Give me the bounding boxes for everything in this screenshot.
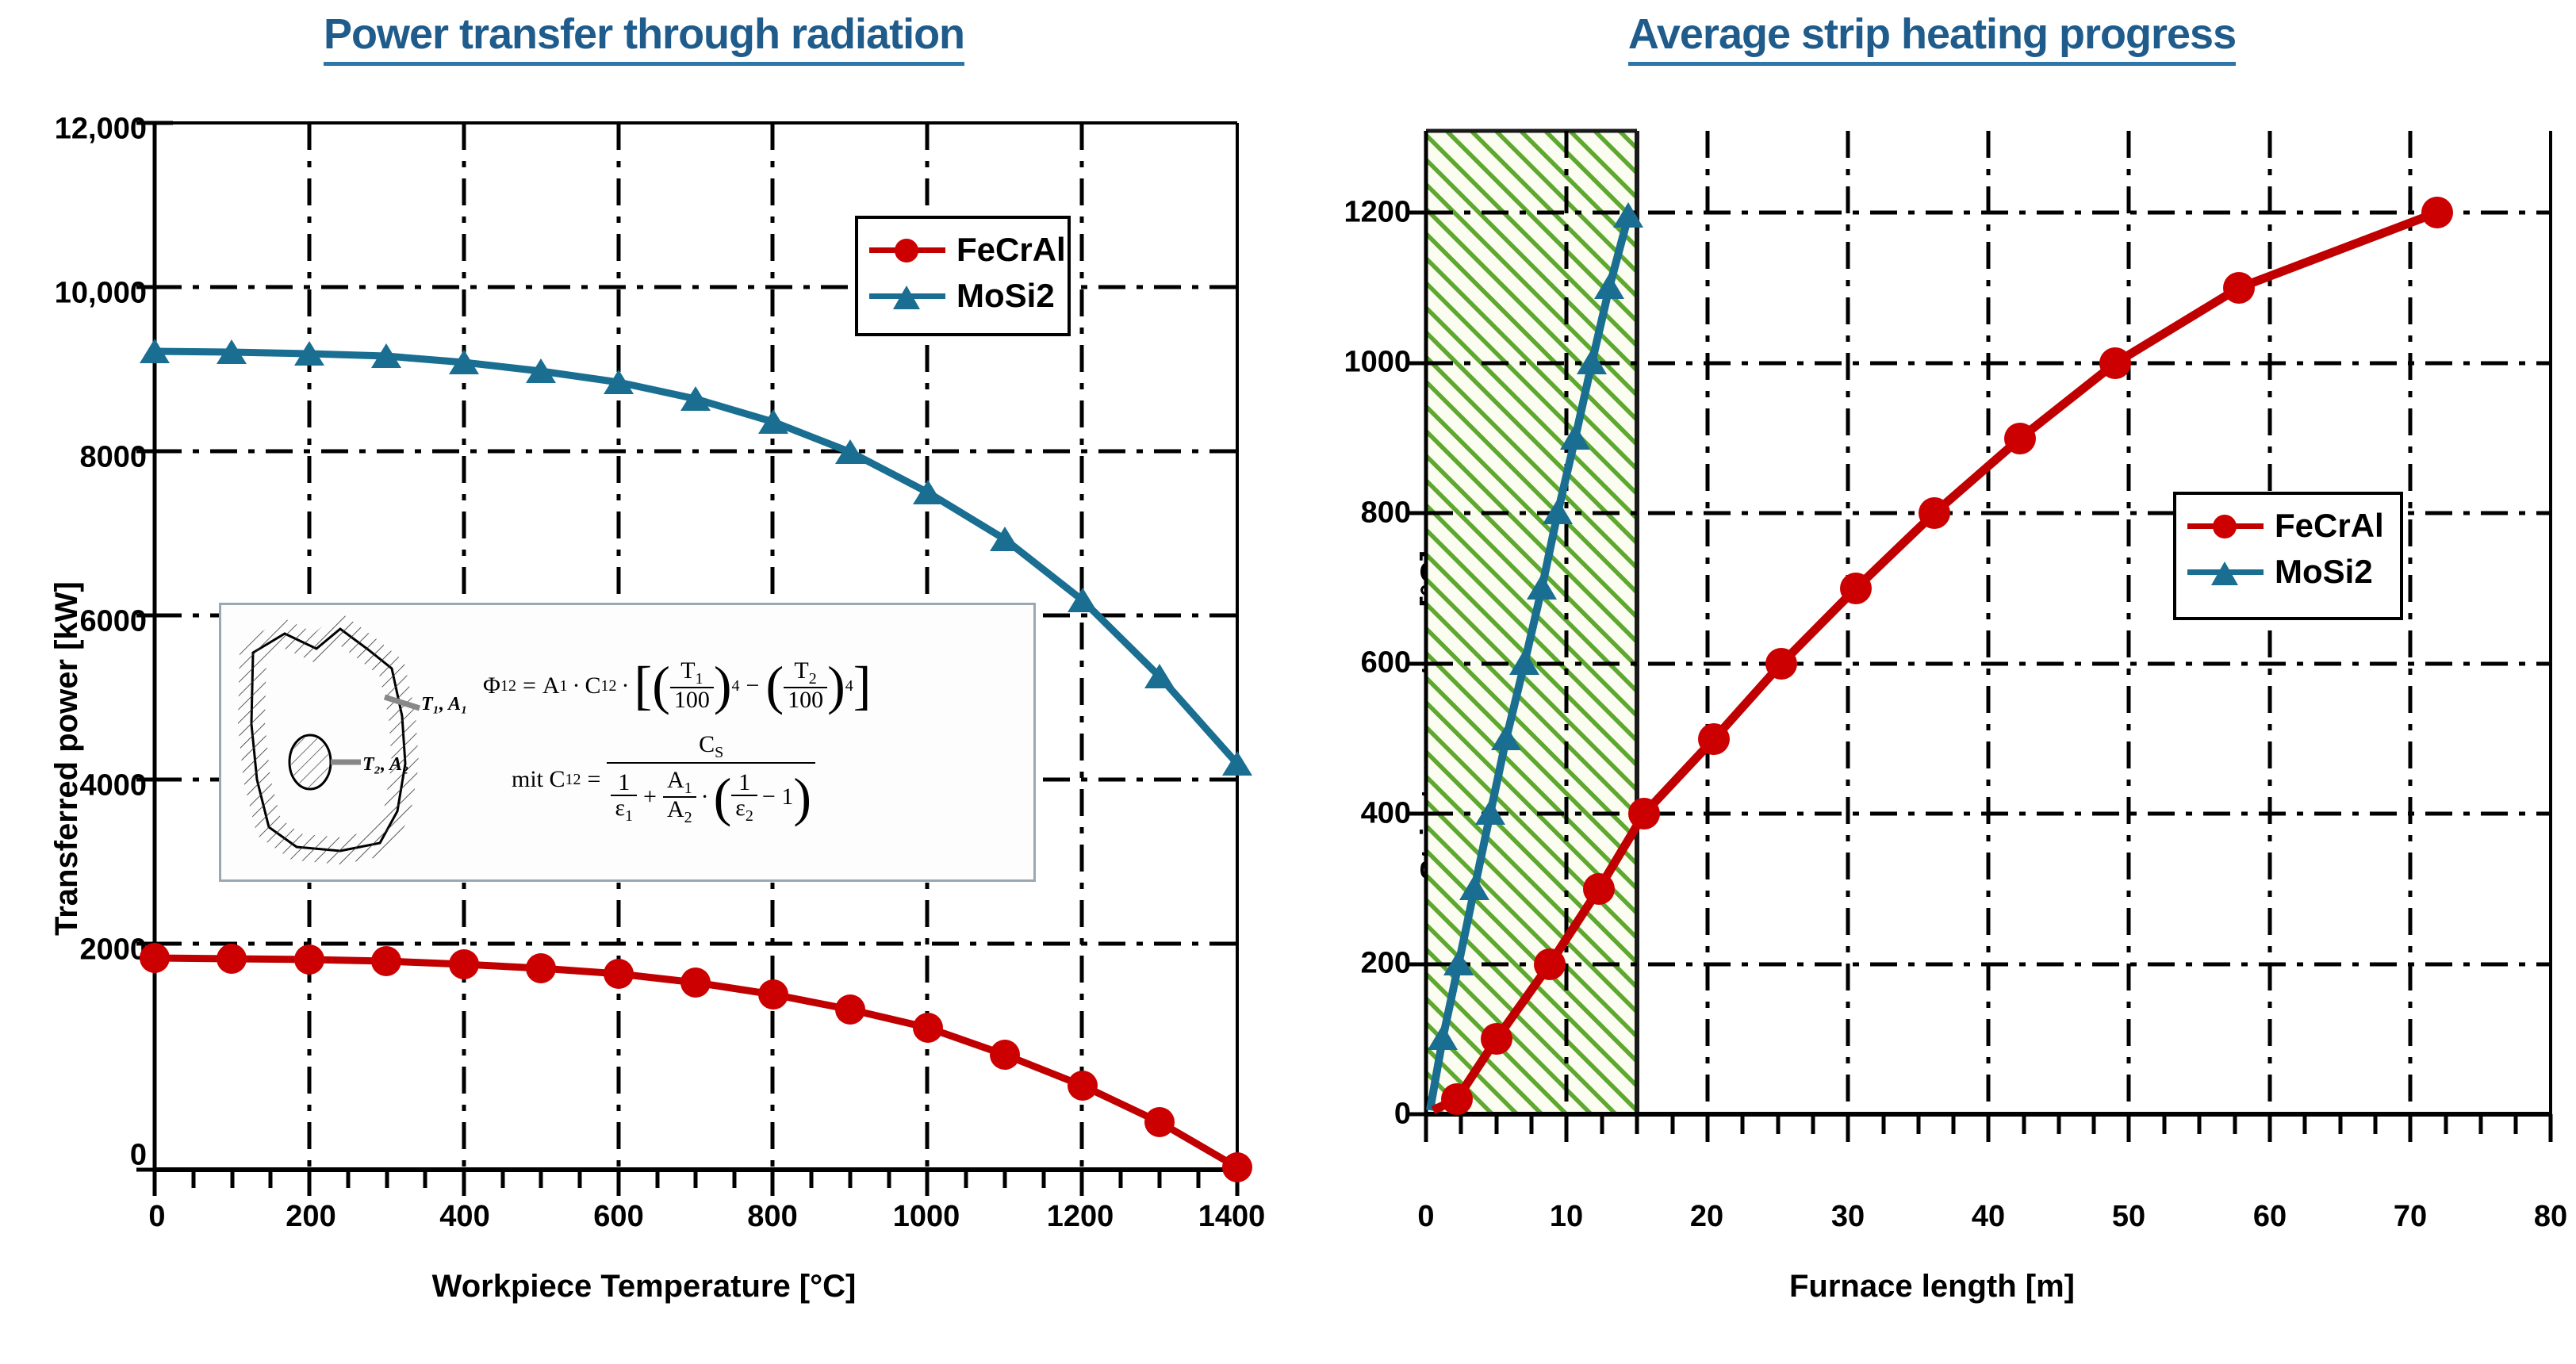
right-legend-label-mosi2: MoSi2 [2275, 555, 2373, 588]
left-legend[interactable]: FeCrAl MoSi2 [855, 216, 1071, 336]
formula-a2-sub: 2 [684, 809, 692, 826]
left-legend-item-mosi2[interactable]: MoSi2 [869, 273, 1053, 319]
formula-paren1-open: ( [652, 664, 670, 707]
fecral-circle-marker-icon [869, 234, 945, 266]
formula-bracket-close: ] [853, 664, 872, 707]
formula-plus: + [643, 785, 657, 809]
formula-t1-sub: 1 [696, 670, 703, 688]
formula-eps1: ε [615, 795, 625, 821]
formula-frac-t1: T1 100 [670, 659, 714, 712]
formula-a1: A [542, 674, 560, 698]
formula-dot1: · [573, 674, 581, 698]
formula-paren3-open: ( [714, 776, 732, 818]
formula-paren3-close: ) [793, 776, 811, 818]
formula-pow2: 4 [845, 678, 853, 694]
formula-eq1: = [523, 674, 536, 698]
formula-frac-eps2: 1 ε2 [731, 771, 757, 824]
inset-inner-surface-label: T₂, A₂ [362, 754, 409, 776]
left-legend-label-fecral: FeCrAl [956, 233, 1066, 266]
formula-eps2: ε [735, 795, 746, 821]
formula-minus-one: − 1 [762, 785, 793, 809]
formula-a1n: A [667, 767, 684, 793]
left-legend-label-mosi2: MoSi2 [956, 279, 1055, 312]
left-x-ticks [155, 1170, 1237, 1196]
formula-phi-sub: 12 [500, 678, 516, 694]
formula-eps2-sub: 2 [746, 807, 753, 825]
formula-paren1-close: ) [714, 664, 732, 707]
formula-frac-eps1: 1 ε1 [611, 771, 637, 824]
right-legend-item-fecral[interactable]: FeCrAl [2187, 503, 2386, 549]
inset-outer-surface-label: T₁, A₁ [421, 694, 468, 715]
formula-dot3: · [701, 785, 709, 809]
formula-one2: 1 [731, 771, 757, 796]
formula-pow1: 4 [732, 678, 740, 694]
left-legend-item-fecral[interactable]: FeCrAl [869, 227, 1053, 273]
radiation-enclosure-diagram-icon: T₁, A₁ T₂, A₂ [221, 605, 483, 879]
formula-cs-sub: S [715, 744, 723, 761]
formula-mit: mit C [512, 768, 565, 791]
formula-paren2-open: ( [765, 664, 784, 707]
formula-minus: − [746, 674, 760, 698]
right-legend-item-mosi2[interactable]: MoSi2 [2187, 549, 2386, 595]
right-legend[interactable]: FeCrAl MoSi2 [2173, 492, 2403, 620]
formula-a1n-sub: 1 [684, 780, 692, 797]
right-plot-area [1288, 0, 2576, 1364]
right-legend-label-fecral: FeCrAl [2275, 509, 2384, 542]
formula-eq2: = [588, 768, 601, 791]
formula-100b: 100 [784, 688, 827, 712]
formula-frac-c12: CS 1 ε1 + A1 A2 [607, 733, 815, 826]
formula-a1-sub: 1 [560, 678, 568, 694]
radiation-formula-inset: T₁, A₁ T₂, A₂ Φ12 = A1 · C12 · [ ( [219, 603, 1036, 882]
formula-100a: 100 [670, 688, 714, 712]
formula-bracket-open: [ [634, 664, 653, 707]
formula-dot2: · [622, 674, 630, 698]
slide-canvas: Power transfer through radiation Transfe… [0, 0, 2576, 1364]
mosi2-triangle-marker-icon [2187, 556, 2264, 588]
formula-paren2-close: ) [827, 664, 845, 707]
formula-frac-t2: T2 100 [784, 659, 827, 712]
left-series-fecral [140, 943, 1252, 1182]
left-chart-panel: Power transfer through radiation Transfe… [0, 0, 1288, 1364]
formula-phi: Φ [483, 674, 500, 698]
formula-t1: T [680, 657, 695, 684]
formula-eps1-sub: 1 [625, 807, 633, 825]
mosi2-triangle-marker-icon [869, 280, 945, 312]
formula-mit-sub: 12 [565, 772, 581, 787]
formula-cs: C [699, 731, 715, 757]
formula-t2-sub: 2 [809, 670, 817, 688]
formula-t2: T [794, 657, 808, 684]
right-x-ticks [1426, 1114, 2551, 1142]
radiation-formula-math: Φ12 = A1 · C12 · [ ( T1 100 )4 − [483, 659, 1033, 826]
right-chart-panel: Average strip heating progress Strip tem… [1288, 0, 2576, 1364]
formula-c12: C [585, 674, 601, 698]
formula-a2: A [667, 796, 684, 822]
fecral-circle-marker-icon [2187, 510, 2264, 542]
right-grid-vertical [1566, 131, 2410, 1114]
formula-one1: 1 [611, 771, 637, 796]
formula-frac-areas: A1 A2 [663, 768, 696, 826]
formula-c12-sub: 12 [601, 678, 617, 694]
